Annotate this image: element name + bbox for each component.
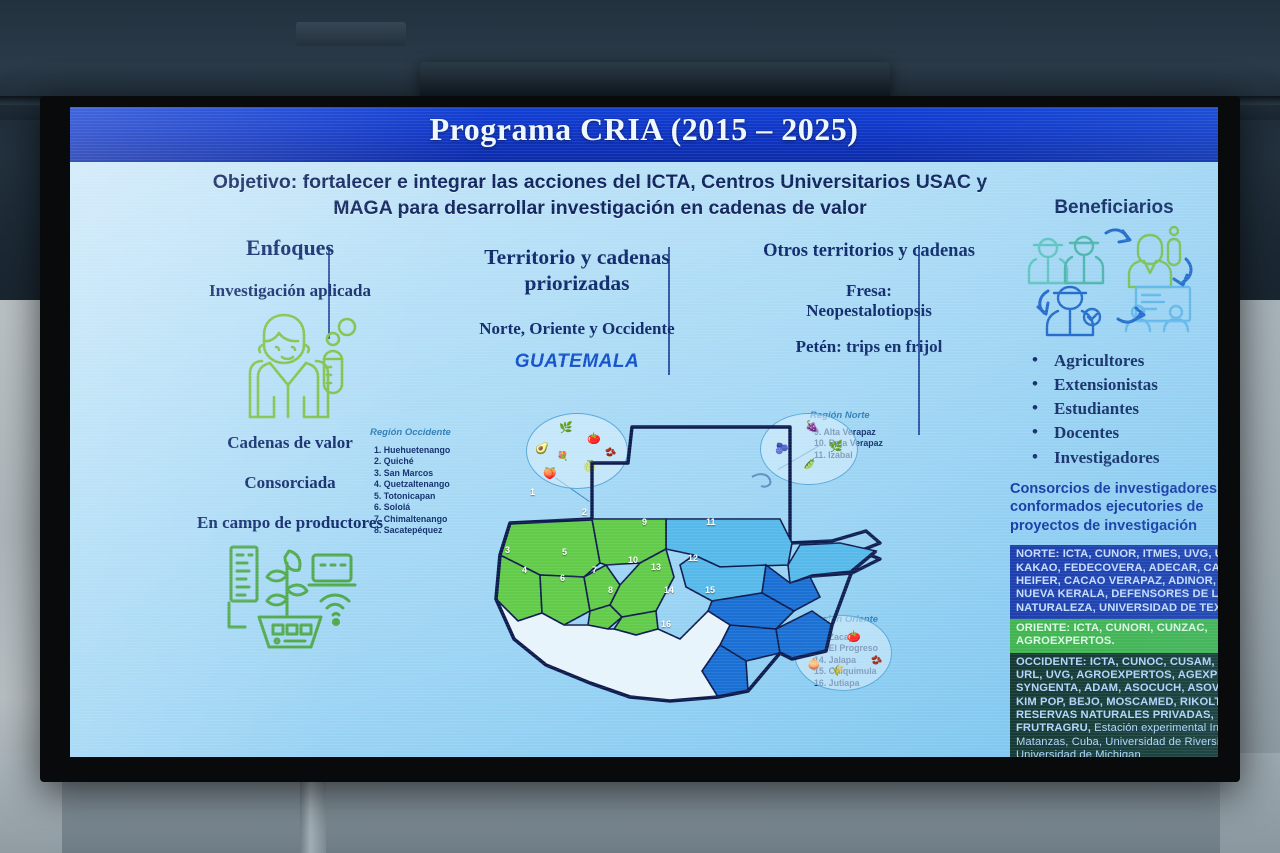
map-number: 13 bbox=[651, 562, 661, 572]
display-monitor: Programa CRIA (2015 – 2025) Objetivo: fo… bbox=[40, 96, 1240, 782]
consortia-box-oriente: ORIENTE: ICTA, CUNORI, CUNZAC, AGROEXPER… bbox=[1010, 619, 1218, 653]
monitor-stand-leg bbox=[300, 775, 326, 853]
map-number: 14 bbox=[664, 585, 674, 595]
objective-line-1: Objetivo: fortalecer e integrar las acci… bbox=[110, 169, 1090, 195]
consortia-title-line-2: conformados ejecutories de bbox=[1010, 498, 1218, 517]
map-number: 16 bbox=[661, 619, 671, 629]
map-region-label-occidente: Región Occidente bbox=[370, 427, 451, 438]
map-region-list-occidente: 1. Huehuetenango 2. Quiché 3. San Marcos… bbox=[374, 445, 450, 536]
consortia-box-occidente: OCCIDENTE: ICTA, CUNOC, CUSAM, CUNOROC, … bbox=[1010, 653, 1218, 757]
consortia-box-norte: NORTE: ICTA, CUNOR, ITMES, UVG, URL, FIN… bbox=[1010, 545, 1218, 619]
region-item: 7. Chimaltenango bbox=[374, 514, 450, 525]
enfoques-heading: Enfoques bbox=[160, 235, 420, 261]
objective-line-2: MAGA para desarrollar investigación en c… bbox=[110, 195, 1090, 221]
map-number: 1 bbox=[530, 487, 535, 497]
enfoques-item-0: Investigación aplicada bbox=[160, 281, 420, 301]
territorio-heading-line-2: priorizadas bbox=[422, 271, 732, 297]
territorio-subheading: Norte, Oriente y Occidente bbox=[422, 319, 732, 339]
otros-item-2: Petén: trips en frijol bbox=[738, 337, 1000, 357]
consortia-title: Consorcios de investigadores conformados… bbox=[1010, 480, 1218, 536]
guatemala-map: Región Occidente 1. Huehuetenango 2. Qui… bbox=[370, 407, 990, 752]
territorio-heading-line-1: Territorio y cadenas bbox=[422, 245, 732, 271]
region-item: 3. San Marcos bbox=[374, 468, 450, 479]
region-item: 2. Quiché bbox=[374, 456, 450, 467]
monitor-mount-bar bbox=[420, 62, 890, 98]
ceiling-light bbox=[296, 22, 406, 46]
beneficiario-item: Agricultores bbox=[1028, 349, 1218, 373]
consortia-title-line-1: Consorcios de investigadores bbox=[1010, 480, 1218, 499]
map-number: 15 bbox=[705, 585, 715, 595]
map-number: 8 bbox=[608, 585, 613, 595]
presentation-slide: Programa CRIA (2015 – 2025) Objetivo: fo… bbox=[70, 107, 1218, 757]
map-number: 5 bbox=[562, 547, 567, 557]
map-number: 7 bbox=[592, 565, 597, 575]
screen-surface: Programa CRIA (2015 – 2025) Objetivo: fo… bbox=[70, 107, 1218, 757]
country-label: GUATEMALA bbox=[422, 351, 732, 373]
column-otros-territorios: Otros territorios y cadenas Fresa: Neope… bbox=[738, 241, 1000, 357]
beneficiaries-cycle-icon bbox=[1018, 219, 1210, 339]
region-item: 5. Totonicapan bbox=[374, 491, 450, 502]
beneficiario-item: Estudiantes bbox=[1028, 397, 1218, 421]
column-territorio: Territorio y cadenas priorizadas Norte, … bbox=[422, 245, 732, 373]
beneficiario-item: Investigadores bbox=[1028, 446, 1218, 470]
map-number: 2 bbox=[582, 507, 587, 517]
region-item: 8. Sacatepéquez bbox=[374, 525, 450, 536]
slide-objective: Objetivo: fortalecer e integrar las acci… bbox=[110, 169, 1090, 222]
beneficiarios-bullet-list: Agricultores Extensionistas Estudiantes … bbox=[1028, 349, 1218, 470]
otros-item-1-line-1: Fresa: bbox=[738, 280, 1000, 301]
map-number: 12 bbox=[688, 553, 698, 563]
region-item: 4. Quetzaltenango bbox=[374, 479, 450, 490]
beneficiarios-heading: Beneficiarios bbox=[1010, 197, 1218, 219]
scientist-icon bbox=[220, 301, 360, 433]
map-number: 4 bbox=[522, 565, 527, 575]
smart-farming-icon bbox=[215, 541, 365, 653]
beneficiario-item: Extensionistas bbox=[1028, 373, 1218, 397]
map-number: 9 bbox=[642, 517, 647, 527]
map-number: 3 bbox=[505, 545, 510, 555]
map-number: 11 bbox=[706, 517, 716, 527]
map-number: 10 bbox=[628, 555, 638, 565]
slide-title-bar: Programa CRIA (2015 – 2025) bbox=[70, 107, 1218, 162]
otros-heading: Otros territorios y cadenas bbox=[738, 241, 1000, 262]
beneficiario-item: Docentes bbox=[1028, 421, 1218, 445]
map-number: 6 bbox=[560, 573, 565, 583]
consortia-title-line-3: proyectos de investigación bbox=[1010, 517, 1218, 536]
otros-item-1-line-2: Neopestalotiopsis bbox=[738, 301, 1000, 321]
region-item: 1. Huehuetenango bbox=[374, 445, 450, 456]
column-beneficiarios: Beneficiarios bbox=[1010, 197, 1218, 757]
slide-title: Programa CRIA (2015 – 2025) bbox=[70, 111, 1218, 148]
region-item: 6. Sololá bbox=[374, 502, 450, 513]
map-svg bbox=[480, 415, 920, 715]
